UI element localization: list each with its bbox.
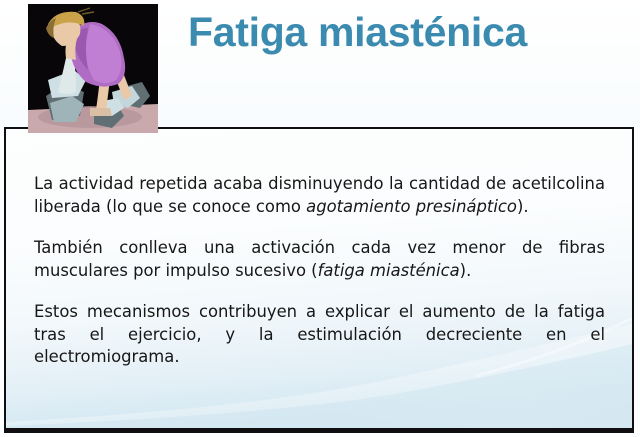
paragraph-1-run-3: ). — [517, 197, 529, 216]
paragraph-1-run-2-italic: agotamiento presináptico — [306, 197, 517, 216]
paragraph-3: Estos mecanismos contribuyen a explicar … — [34, 301, 605, 369]
paragraph-3-run-1: Estos mecanismos contribuyen a explicar … — [34, 302, 605, 366]
paragraph-1: La actividad repetida acaba disminuyendo… — [34, 173, 605, 218]
page-title: Fatiga miasténica — [188, 6, 608, 58]
paragraph-2-run-3: ). — [460, 261, 472, 280]
content-panel: La actividad repetida acaba disminuyendo… — [4, 127, 634, 433]
tired-woman-illustration — [28, 4, 158, 133]
tired-woman-clipart — [28, 4, 158, 133]
body-text-block: La actividad repetida acaba disminuyendo… — [34, 173, 605, 369]
paragraph-2-run-2-italic: fatiga miasténica — [318, 261, 460, 280]
slide-canvas: Fatiga miasténica — [0, 0, 640, 437]
paragraph-2: También conlleva una activación cada vez… — [34, 237, 605, 282]
